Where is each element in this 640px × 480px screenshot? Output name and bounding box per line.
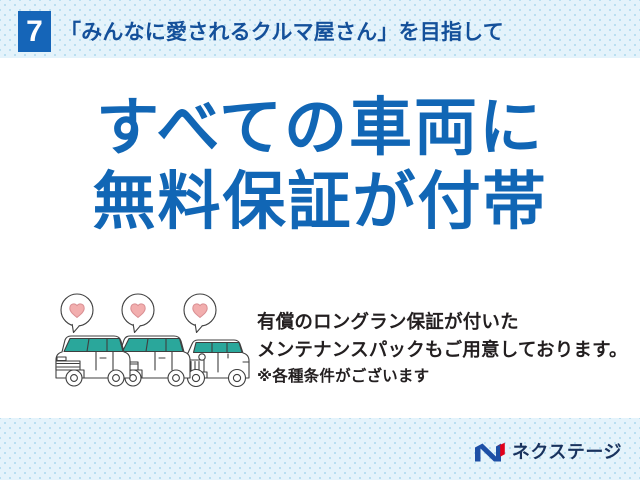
nexstage-n-logo-icon — [474, 442, 506, 463]
vehicles-illustration-svg — [52, 292, 252, 397]
body-copy-line-2: メンテナンスパックもご用意しております。 — [257, 336, 632, 364]
vehicle-kei-van — [56, 336, 130, 386]
body-copy-line-3: ※各種条件がございます — [257, 364, 632, 390]
heart-speech-bubble-1 — [61, 294, 93, 333]
header-title: 「みんなに愛されるクルマ屋さん」を目指して — [60, 16, 504, 46]
heart-speech-bubble-3 — [184, 294, 216, 333]
promo-poster: 7 「みんなに愛されるクルマ屋さん」を目指して すべての車両に 無料保証が付帯 — [0, 0, 640, 480]
headline: すべての車両に 無料保証が付帯 — [0, 96, 640, 235]
section-number-badge: 7 — [18, 11, 51, 52]
headline-line-1: すべての車両に — [0, 96, 640, 160]
brand-logo: ネクステージ — [474, 440, 622, 464]
brand-name: ネクステージ — [512, 442, 622, 463]
vehicles-illustration — [52, 292, 252, 397]
body-copy-line-1: 有償のロングラン保証が付いた — [257, 308, 632, 336]
headline-line-2: 無料保証が付帯 — [0, 170, 640, 234]
heart-speech-bubble-2 — [122, 294, 154, 333]
body-copy: 有償のロングラン保証が付いた メンテナンスパックもご用意しております。 ※各種条… — [257, 308, 632, 390]
